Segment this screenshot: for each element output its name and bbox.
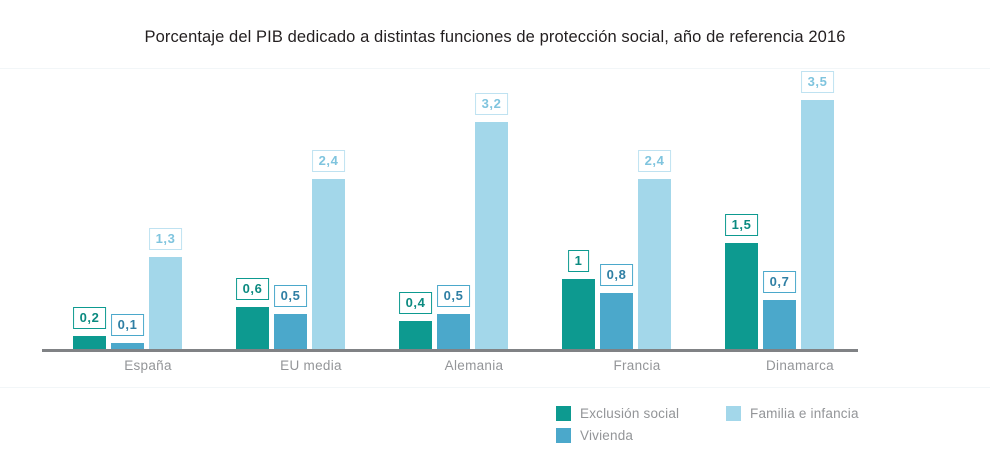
legend-label: Familia e infancia: [750, 406, 859, 421]
bar-rect[interactable]: [725, 243, 758, 350]
bar-value-label: 0,7: [763, 271, 797, 293]
legend-row: Vivienda: [556, 424, 956, 446]
bar-rect[interactable]: [312, 179, 345, 350]
bar-rect[interactable]: [562, 279, 595, 350]
bar-españa-s0[interactable]: 0,2: [73, 68, 106, 350]
bar-value-label: 2,4: [638, 150, 672, 172]
bar-group-2: 0,40,53,2: [399, 68, 549, 350]
bar-value-label: 3,2: [475, 93, 509, 115]
bar-dinamarca-s1[interactable]: 0,7: [763, 68, 796, 350]
bar-rect[interactable]: [638, 179, 671, 350]
bar-rect[interactable]: [149, 257, 182, 350]
bar-value-label: 1: [568, 250, 590, 272]
bar-group-bars: 1,50,73,5: [725, 68, 875, 350]
bar-francia-s2[interactable]: 2,4: [638, 68, 671, 350]
bar-group-3: 10,82,4: [562, 68, 712, 350]
bar-value-label: 0,6: [236, 278, 270, 300]
bar-group-bars: 0,60,52,4: [236, 68, 386, 350]
bar-rect[interactable]: [274, 314, 307, 350]
bar-group-0: 0,20,11,3: [73, 68, 223, 350]
bar-alemania-s2[interactable]: 3,2: [475, 68, 508, 350]
bar-group-bars: 0,40,53,2: [399, 68, 549, 350]
x-axis-label-2: Alemania: [399, 358, 549, 373]
bar-value-label: 0,8: [600, 264, 634, 286]
bar-dinamarca-s0[interactable]: 1,5: [725, 68, 758, 350]
bar-value-label: 0,1: [111, 314, 145, 336]
bar-españa-s2[interactable]: 1,3: [149, 68, 182, 350]
bar-group-4: 1,50,73,5: [725, 68, 875, 350]
legend-item-vivienda[interactable]: Vivienda: [556, 428, 726, 443]
bar-eu-media-s2[interactable]: 2,4: [312, 68, 345, 350]
bar-rect[interactable]: [437, 314, 470, 350]
x-axis-line: [42, 349, 858, 352]
bar-rect[interactable]: [236, 307, 269, 350]
legend-item-exclusion-social[interactable]: Exclusión social: [556, 406, 726, 421]
legend-label: Vivienda: [580, 428, 633, 443]
bar-españa-s1[interactable]: 0,1: [111, 68, 144, 350]
plot-area: 0,20,11,30,60,52,40,40,53,210,82,41,50,7…: [42, 68, 858, 350]
x-axis-label-4: Dinamarca: [725, 358, 875, 373]
bar-rect[interactable]: [73, 336, 106, 350]
x-axis-label-0: España: [73, 358, 223, 373]
bar-value-label: 0,5: [274, 285, 308, 307]
bar-rect[interactable]: [475, 122, 508, 350]
bar-alemania-s1[interactable]: 0,5: [437, 68, 470, 350]
bar-dinamarca-s2[interactable]: 3,5: [801, 68, 834, 350]
bar-rect[interactable]: [399, 321, 432, 350]
x-axis-label-3: Francia: [562, 358, 712, 373]
bar-rect[interactable]: [763, 300, 796, 350]
bar-value-label: 1,3: [149, 228, 183, 250]
bar-rect[interactable]: [600, 293, 633, 350]
legend: Exclusión social Familia e infancia Vivi…: [556, 402, 956, 446]
bar-value-label: 1,5: [725, 214, 759, 236]
bar-eu-media-s1[interactable]: 0,5: [274, 68, 307, 350]
bar-rect[interactable]: [801, 100, 834, 350]
bar-francia-s0[interactable]: 1: [562, 68, 595, 350]
bar-value-label: 3,5: [801, 71, 835, 93]
x-axis-label-1: EU media: [236, 358, 386, 373]
bar-value-label: 0,5: [437, 285, 471, 307]
bar-value-label: 2,4: [312, 150, 346, 172]
legend-item-familia-e-infancia[interactable]: Familia e infancia: [726, 406, 859, 421]
page-title: Porcentaje del PIB dedicado a distintas …: [0, 28, 990, 47]
bar-group-bars: 10,82,4: [562, 68, 712, 350]
legend-swatch-icon: [556, 428, 571, 443]
bar-group-bars: 0,20,11,3: [73, 68, 223, 350]
bar-value-label: 0,4: [399, 292, 433, 314]
legend-label: Exclusión social: [580, 406, 679, 421]
bar-francia-s1[interactable]: 0,8: [600, 68, 633, 350]
legend-row: Exclusión social Familia e infancia: [556, 402, 956, 424]
legend-swatch-icon: [726, 406, 741, 421]
bar-group-1: 0,60,52,4: [236, 68, 386, 350]
bar-alemania-s0[interactable]: 0,4: [399, 68, 432, 350]
legend-swatch-icon: [556, 406, 571, 421]
bar-value-label: 0,2: [73, 307, 107, 329]
bar-eu-media-s0[interactable]: 0,6: [236, 68, 269, 350]
